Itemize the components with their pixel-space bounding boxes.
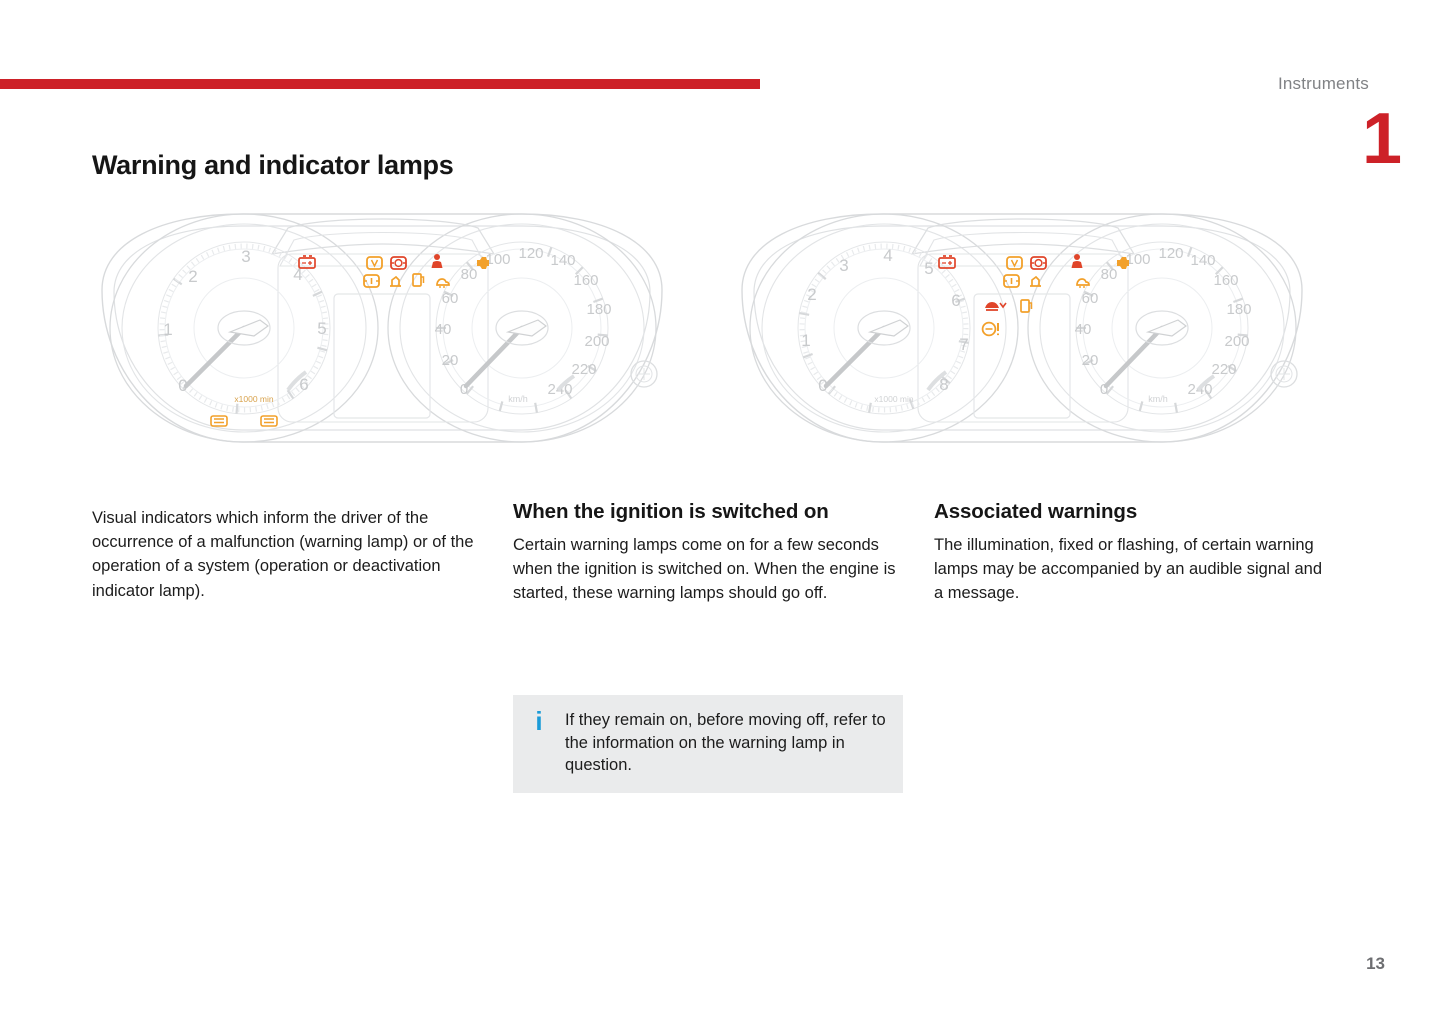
intro-paragraph: Visual indicators which inform the drive… xyxy=(92,506,484,603)
speed-tick-180: 180 xyxy=(586,301,611,318)
glow-plug-preheat-icon xyxy=(211,416,227,426)
speed-tick-160: 160 xyxy=(1213,272,1238,289)
chapter-number-marker: 1 xyxy=(1362,108,1390,170)
information-icon: i xyxy=(513,709,565,732)
speed-tick-80: 80 xyxy=(1101,266,1118,283)
speed-tick-100: 100 xyxy=(1125,251,1150,268)
associated-warnings-heading: Associated warnings xyxy=(934,500,1326,524)
tach-tick-2: 2 xyxy=(807,285,816,304)
left-speedometer: 0 20 40 60 80 100 120 140 160 180 200 22… xyxy=(435,242,612,414)
tach-tick-4: 4 xyxy=(883,246,892,265)
information-icon-glyph: i xyxy=(535,710,542,732)
speed-unit-label: km/h xyxy=(1148,394,1168,404)
speed-tick-200: 200 xyxy=(1224,333,1249,350)
speed-tick-140: 140 xyxy=(1190,252,1215,269)
tach-tick-3: 3 xyxy=(839,256,848,275)
engine-oil-icon xyxy=(364,275,379,287)
speed-tick-160: 160 xyxy=(573,272,598,289)
speed-tick-100: 100 xyxy=(485,251,510,268)
instrument-cluster-illustration: 0 1 2 3 4 5 6 x1000 min xyxy=(92,196,1342,461)
speed-tick-20: 20 xyxy=(1082,352,1099,369)
tach-tick-3: 3 xyxy=(241,247,250,266)
speed-unit-label: km/h xyxy=(508,394,528,404)
right-speedometer: 0 20 40 60 80 100 120 140 160 180 200 22… xyxy=(1075,242,1252,414)
coolant-temperature-icon xyxy=(1077,279,1089,288)
speed-tick-220: 220 xyxy=(1211,361,1236,378)
left-tachometer: 0 1 2 3 4 5 6 x1000 min xyxy=(158,242,330,426)
information-callout-text: If they remain on, before moving off, re… xyxy=(565,709,903,777)
information-callout-box: i If they remain on, before moving off, … xyxy=(513,695,903,793)
speed-tick-40: 40 xyxy=(435,321,452,338)
speed-tick-60: 60 xyxy=(1082,290,1099,307)
text-column-intro: Visual indicators which inform the drive… xyxy=(92,500,484,603)
tach-tick-6: 6 xyxy=(951,291,960,310)
fuel-level-icon xyxy=(413,274,424,286)
page-title: Warning and indicator lamps xyxy=(92,150,453,181)
page-number: 13 xyxy=(1366,954,1385,974)
ignition-heading: When the ignition is switched on xyxy=(513,500,905,524)
speed-tick-200: 200 xyxy=(584,333,609,350)
tach-tick-5: 5 xyxy=(924,259,933,278)
speed-tick-220: 220 xyxy=(571,361,596,378)
tach-tick-7: 7 xyxy=(959,335,968,354)
tach-tick-1: 1 xyxy=(163,320,172,339)
header-section-label: Instruments xyxy=(1278,74,1369,94)
esp-traction-icon xyxy=(983,323,998,336)
tach-tick-5: 5 xyxy=(317,319,326,338)
seatbelt-icon xyxy=(1007,257,1022,269)
ignition-paragraph: Certain warning lamps come on for a few … xyxy=(513,533,905,606)
tach-tick-1: 1 xyxy=(801,331,810,350)
text-column-ignition: When the ignition is switched on Certain… xyxy=(513,500,905,606)
tach-unit-label: x1000 min xyxy=(874,394,913,404)
door-open-icon xyxy=(390,277,401,286)
tach-unit-label: x1000 min xyxy=(234,394,273,404)
right-display-lamp-group xyxy=(983,300,1032,335)
speed-tick-80: 80 xyxy=(461,266,478,283)
coolant-temperature-icon xyxy=(437,279,449,288)
brake-system-icon xyxy=(1031,257,1046,269)
seatbelt-icon xyxy=(367,257,382,269)
associated-warnings-paragraph: The illumination, fixed or flashing, of … xyxy=(934,533,1326,606)
speed-tick-120: 120 xyxy=(1158,245,1183,262)
cluster-right: 0 1 2 3 4 5 6 7 8 x1000 min xyxy=(742,214,1302,442)
header-red-rule xyxy=(0,79,760,89)
speed-tick-120: 120 xyxy=(518,245,543,262)
text-column-associated-warnings: Associated warnings The illumination, fi… xyxy=(934,500,1326,606)
speed-tick-140: 140 xyxy=(550,252,575,269)
door-open-icon xyxy=(1030,277,1041,286)
speed-tick-60: 60 xyxy=(442,290,459,307)
speed-tick-40: 40 xyxy=(1075,321,1092,338)
engine-oil-icon xyxy=(1004,275,1019,287)
speed-tick-20: 20 xyxy=(442,352,459,369)
tach-tick-2: 2 xyxy=(188,267,197,286)
brake-system-icon xyxy=(391,257,406,269)
rear-screen-demist-icon xyxy=(261,416,277,426)
cluster-left: 0 1 2 3 4 5 6 x1000 min xyxy=(102,214,662,442)
speed-tick-180: 180 xyxy=(1226,301,1251,318)
